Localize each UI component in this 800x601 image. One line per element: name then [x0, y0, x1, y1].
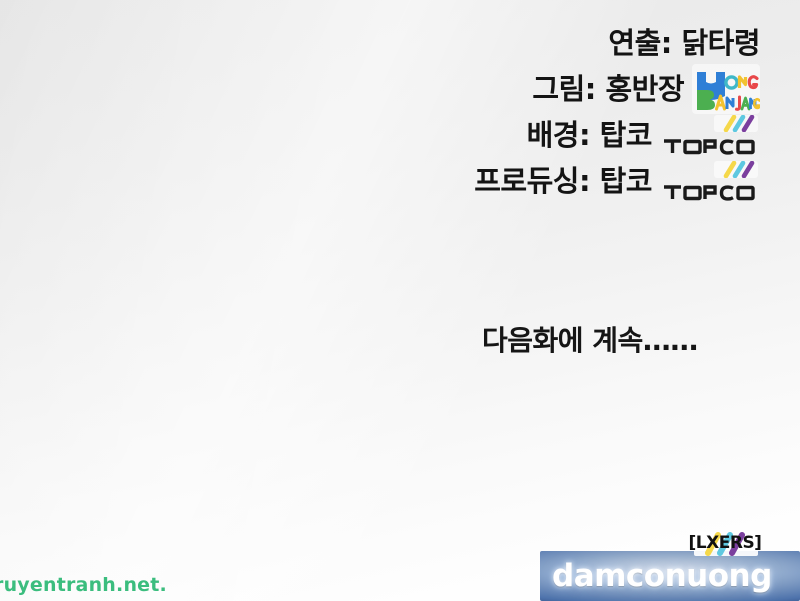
credit-text-background: 배경: 탑코: [527, 121, 652, 150]
comic-end-page: 연출: 닭타령 그림: 홍반장: [0, 0, 800, 601]
hong-banjang-logo: [692, 64, 760, 114]
next-episode-text: 다음화에 계속……: [482, 327, 698, 355]
credit-line-director: 연출: 닭타령: [0, 20, 760, 66]
topco-wordmark: [662, 134, 760, 156]
credit-text-art: 그림: 홍반장: [532, 75, 684, 104]
lxers-logo: [LXERS]: [682, 531, 768, 565]
damconuong-watermark: damconuong [LXERS]: [540, 543, 800, 601]
lxers-text: [LXERS]: [682, 535, 768, 552]
topco-wordmark: [662, 180, 760, 202]
credit-line-clipped: [0, 0, 760, 20]
damconuong-text: damconuong: [552, 561, 772, 592]
credit-line-background: 배경: 탑코: [0, 112, 760, 158]
credit-text-producing: 프로듀싱: 탑코: [474, 167, 652, 196]
site-watermark-green: ruyentranh.net.: [0, 576, 167, 595]
credit-line-producing: 프로듀싱: 탑코: [0, 158, 760, 204]
credit-text-director: 연출: 닭타령: [608, 29, 760, 58]
credits-block: 연출: 닭타령 그림: 홍반장: [0, 0, 760, 204]
topco-stripes-icon: [714, 161, 758, 178]
topco-stripes-icon: [714, 115, 758, 132]
topco-logo-background: [662, 115, 760, 155]
topco-logo-producing: [662, 161, 760, 201]
credit-line-art: 그림: 홍반장: [0, 66, 760, 112]
